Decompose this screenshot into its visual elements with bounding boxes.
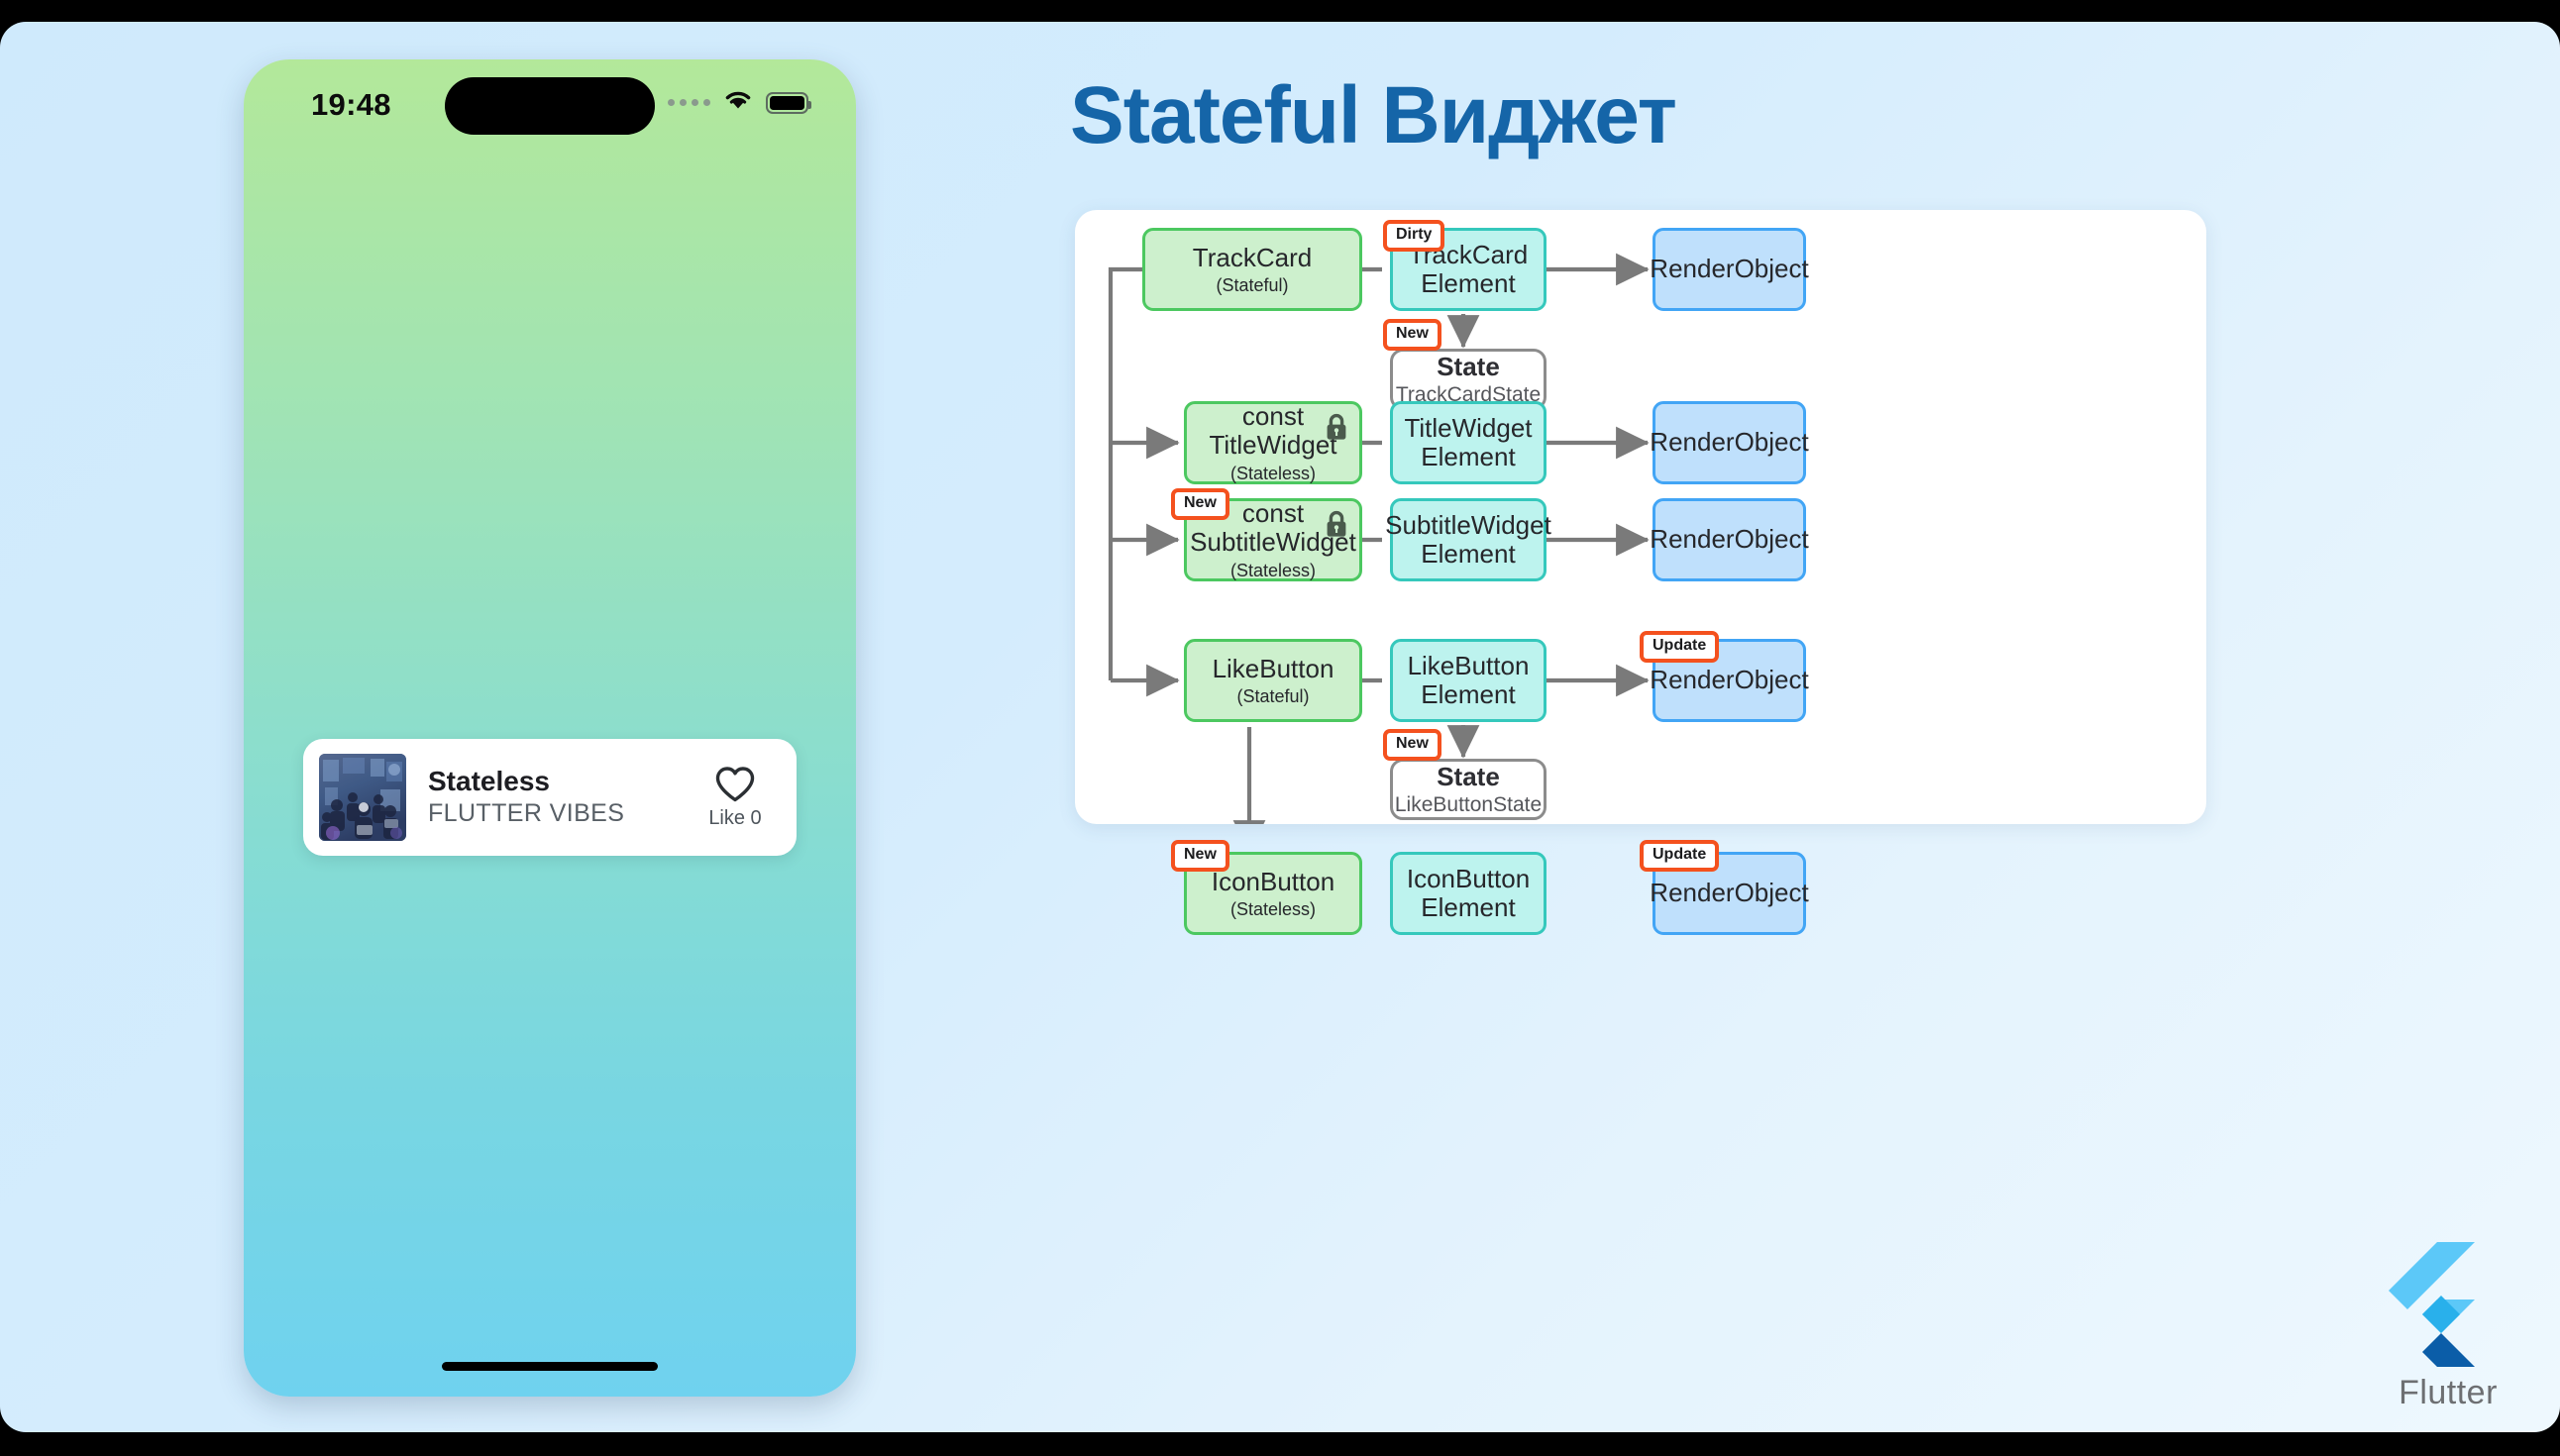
widget-node-subtitle: (Stateless) — [1230, 561, 1316, 580]
render-node-subtitlewidget[interactable]: RenderObject — [1653, 498, 1806, 581]
badge-update-likebutton: Update — [1640, 631, 1719, 663]
widget-node-title: IconButton — [1212, 868, 1334, 896]
element-node-iconbutton[interactable]: IconButton Element — [1390, 852, 1547, 935]
render-node-trackcard[interactable]: RenderObject — [1653, 228, 1806, 311]
track-subtitle: FLUTTER VIBES — [428, 797, 690, 830]
battery-icon — [766, 92, 808, 114]
widget-node-title: TrackCard — [1193, 244, 1312, 272]
element-node-title: TitleWidget — [1404, 414, 1532, 443]
element-node-title-2: Element — [1421, 269, 1515, 298]
render-node-title: RenderObject — [1650, 879, 1808, 907]
like-button[interactable]: Like 0 — [690, 766, 781, 830]
render-node-title: RenderObject — [1650, 666, 1808, 694]
widget-node-likebutton[interactable]: LikeButton (Stateful) — [1184, 639, 1362, 722]
state-node-title: State — [1437, 353, 1500, 381]
widget-node-titlewidget[interactable]: const TitleWidget (Stateless) — [1184, 401, 1362, 484]
padlock-icon — [1324, 412, 1349, 442]
widget-node-title: const — [1242, 402, 1304, 431]
slide-root: 19:48 — [0, 22, 2560, 1432]
flutter-branding: Flutter — [2374, 1240, 2522, 1412]
flutter-wordmark: Flutter — [2374, 1374, 2522, 1412]
widget-node-title-2: TitleWidget — [1209, 431, 1336, 460]
render-node-title: RenderObject — [1650, 428, 1808, 457]
state-node-subtitle: LikeButtonState — [1395, 793, 1542, 817]
element-node-title: SubtitleWidget — [1385, 511, 1551, 540]
widget-node-subtitle: (Stateful) — [1236, 686, 1309, 706]
dynamic-island — [445, 77, 655, 135]
widget-node-subtitle: (Stateful) — [1216, 275, 1288, 295]
widget-node-subtitle: (Stateless) — [1230, 899, 1316, 919]
badge-update-iconbutton: Update — [1640, 840, 1719, 872]
badge-new-likebutton: New — [1171, 488, 1229, 520]
element-node-likebutton[interactable]: LikeButton Element — [1390, 639, 1547, 722]
wifi-icon — [723, 89, 753, 116]
widget-node-title: const — [1242, 499, 1304, 528]
element-node-titlewidget[interactable]: TitleWidget Element — [1390, 401, 1547, 484]
home-indicator — [442, 1362, 658, 1371]
state-node-likebuttonstate[interactable]: State LikeButtonState — [1390, 759, 1547, 820]
heart-outline-icon[interactable] — [714, 766, 756, 803]
like-count-label: Like 0 — [708, 807, 761, 830]
badge-new-trackcardstate: New — [1383, 319, 1441, 351]
state-node-title: State — [1437, 763, 1500, 791]
element-node-title-2: Element — [1421, 540, 1515, 569]
flutter-logo-icon — [2374, 1240, 2522, 1372]
page-title: Stateful Виджет — [1070, 69, 1676, 162]
badge-new-likebuttonstate: New — [1383, 729, 1441, 761]
status-bar-indicators — [668, 89, 808, 116]
element-node-subtitlewidget[interactable]: SubtitleWidget Element — [1390, 498, 1547, 581]
diagram-canvas: TrackCard (Stateful) Dirty TrackCard Ele… — [1075, 210, 2206, 824]
signal-dots-icon — [668, 99, 710, 106]
render-node-title: RenderObject — [1650, 525, 1808, 554]
element-node-title-2: Element — [1421, 680, 1515, 709]
render-node-title: RenderObject — [1650, 255, 1808, 283]
widget-node-title: LikeButton — [1213, 655, 1334, 683]
phone-mockup: 19:48 — [244, 59, 856, 1397]
badge-dirty: Dirty — [1383, 220, 1444, 252]
render-node-titlewidget[interactable]: RenderObject — [1653, 401, 1806, 484]
track-card[interactable]: Stateless FLUTTER VIBES Like 0 — [303, 739, 797, 856]
widget-node-subtitle: (Stateless) — [1230, 464, 1316, 483]
status-bar-time: 19:48 — [311, 87, 391, 123]
diagram-panel: TrackCard (Stateful) Dirty TrackCard Ele… — [1075, 210, 2206, 824]
element-node-title: IconButton — [1407, 865, 1530, 893]
badge-new-iconbutton: New — [1171, 840, 1229, 872]
status-bar: 19:48 — [244, 59, 856, 147]
widget-node-trackcard[interactable]: TrackCard (Stateful) — [1142, 228, 1362, 311]
track-text-block: Stateless FLUTTER VIBES — [428, 765, 690, 830]
track-title: Stateless — [428, 765, 690, 797]
album-artwork — [319, 754, 406, 841]
element-node-title-2: Element — [1421, 443, 1515, 471]
element-node-title-2: Element — [1421, 893, 1515, 922]
element-node-title: LikeButton — [1408, 652, 1530, 680]
padlock-icon — [1324, 509, 1349, 539]
